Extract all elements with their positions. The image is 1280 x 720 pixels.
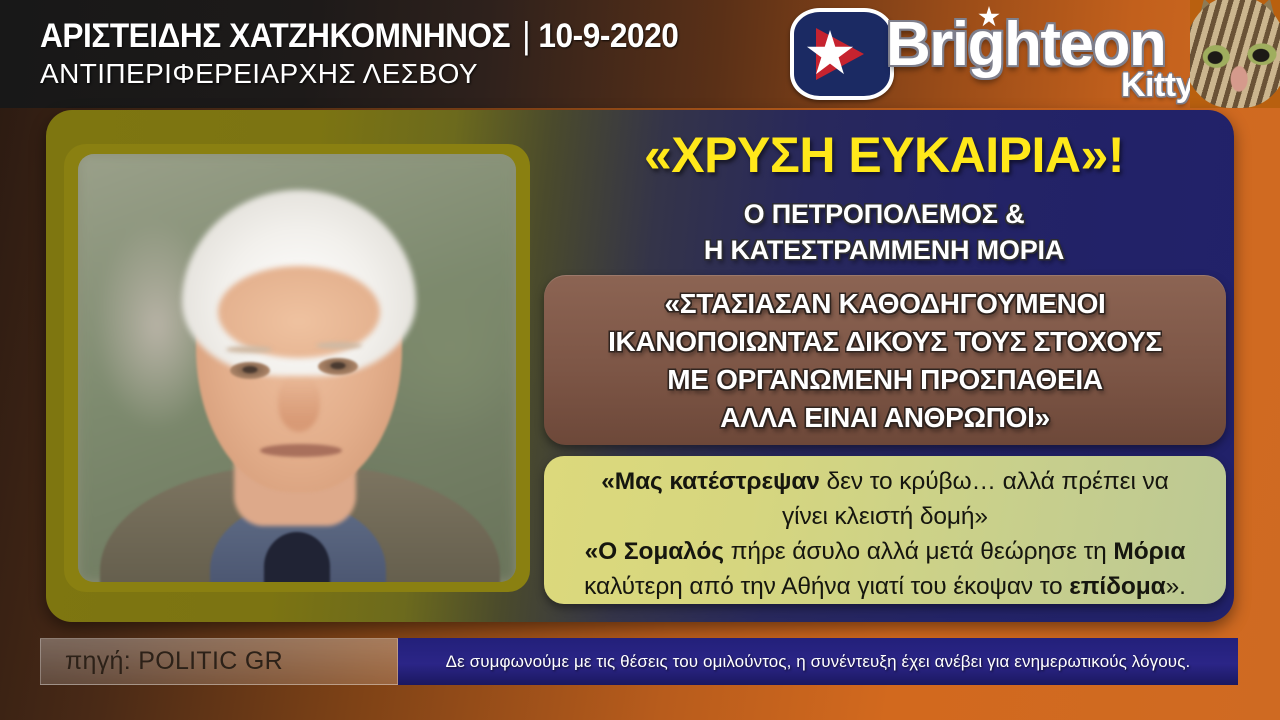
subheadline: Ο ΠΕΤΡΟΠΟΛΕΜΟΣ & Η ΚΑΤΕΣΤΡΑΜΜΕΝΗ ΜΟΡΙΑ [546,196,1222,268]
content-panel: «ΧΡΥΣΗ ΕΥΚΑΙΡΙΑ»! Ο ΠΕΤΡΟΠΟΛΕΜΟΣ & Η ΚΑΤ… [46,110,1234,622]
quote-secondary-emphasis-4: επίδομα [1069,573,1165,600]
cat-photo [1190,0,1280,108]
subheadline-line-2: Η ΚΑΤΕΣΤΡΑΜΜΕΝΗ ΜΟΡΙΑ [546,232,1222,268]
quote-secondary-line-3: «Ο Σομαλός πήρε άσυλο αλλά μετά θεώρησε … [558,534,1212,569]
portrait-nose [278,376,320,432]
quote-secondary-text-3: πήρε άσυλο αλλά μετά θεώρησε τη [724,538,1114,565]
play-star-icon [790,8,894,100]
speaker-name: ΑΡΙΣΤΕΙΔΗΣ ΧΑΤΖΗΚΟΜΝΗΝΟΣ [40,17,510,55]
quote-box-primary: «ΣΤΑΣΙΑΣΑΝ ΚΑΘΟΔΗΓΟΥΜΕΝΟΙ ΙΚΑΝΟΠΟΙΩΝΤΑΣ … [544,275,1226,445]
speaker-title: ΑΝΤΙΠΕΡΙΦΕΡΕΙΑΡΧΗΣ ΛΕΣΒΟΥ [40,56,726,92]
quote-secondary-emphasis-1: «Μας κατέστρεψαν [601,468,820,495]
quote-primary-line-4: ΑΛΛΑ ΕΙΝΑΙ ΑΝΘΡΩΠΟΙ» [552,399,1218,437]
poster-canvas: ΑΡΙΣΤΕΙΔΗΣ ΧΑΤΖΗΚΟΜΝΗΝΟΣ|10-9-2020 ΑΝΤΙΠ… [0,0,1280,720]
quote-primary-line-1: «ΣΤΑΣΙΑΣΑΝ ΚΑΘΟΔΗΓΟΥΜΕΝΟΙ [552,285,1218,323]
quote-box-secondary: «Μας κατέστρεψαν δεν το κρύβω… αλλά πρέπ… [544,456,1226,604]
header-bar: ΑΡΙΣΤΕΙΔΗΣ ΧΑΤΖΗΚΟΜΝΗΝΟΣ|10-9-2020 ΑΝΤΙΠ… [0,0,1280,108]
quote-secondary-line-1: «Μας κατέστρεψαν δεν το κρύβω… αλλά πρέπ… [558,464,1212,499]
quote-secondary-line-2: γίνει κλειστή δομή» [558,499,1212,534]
portrait-frame [64,144,530,592]
brighteon-logo[interactable]: Brighteon Kitty [790,4,1200,106]
headline: «ΧΡΥΣΗ ΕΥΚΑΙΡΙΑ»! [546,126,1222,184]
portrait-eye-right [318,358,358,375]
brand-subname: Kitty [1121,66,1194,105]
portrait-brow-right [316,342,362,349]
quote-secondary-text-4: καλύτερη από την Αθήνα γιατί του έκοψαν … [584,573,1069,600]
speaker-identity-block: ΑΡΙΣΤΕΙΔΗΣ ΧΑΤΖΗΚΟΜΝΗΝΟΣ|10-9-2020 ΑΝΤΙΠ… [40,16,726,92]
portrait-eye-left [230,362,270,379]
quote-secondary-emphasis-3: Μόρια [1113,538,1185,565]
broadcast-date: 10-9-2020 [538,17,678,55]
quote-secondary-text-4-end: ». [1166,573,1186,600]
source-attribution: πηγή: POLITIC GR [40,638,398,685]
subheadline-line-1: Ο ΠΕΤΡΟΠΟΛΕΜΟΣ & [546,196,1222,232]
quote-secondary-emphasis-2: «Ο Σομαλός [585,538,724,565]
quote-secondary-line-4: καλύτερη από την Αθήνα γιατί του έκοψαν … [558,569,1212,604]
cat-head [1190,0,1280,108]
disclaimer-bar: Δε συμφωνούμε με τις θέσεις του ομιλούντ… [398,638,1238,685]
speaker-headline-row: ΑΡΙΣΤΕΙΔΗΣ ΧΑΤΖΗΚΟΜΝΗΝΟΣ|10-9-2020 [40,16,678,56]
quote-primary-line-2: ΙΚΑΝΟΠΟΙΩΝΤΑΣ ΔΙΚΟΥΣ ΤΟΥΣ ΣΤΟΧΟΥΣ [552,323,1218,361]
header-separator: | [510,14,538,57]
quote-secondary-text-1: δεν το κρύβω… αλλά πρέπει να [820,468,1169,495]
portrait-of-speaker [78,154,516,582]
portrait-mouth [260,444,342,457]
quote-primary-line-3: ΜΕ ΟΡΓΑΝΩΜΕΝΗ ΠΡΟΣΠΑΘΕΙΑ [552,361,1218,399]
portrait-brow-left [226,346,272,353]
